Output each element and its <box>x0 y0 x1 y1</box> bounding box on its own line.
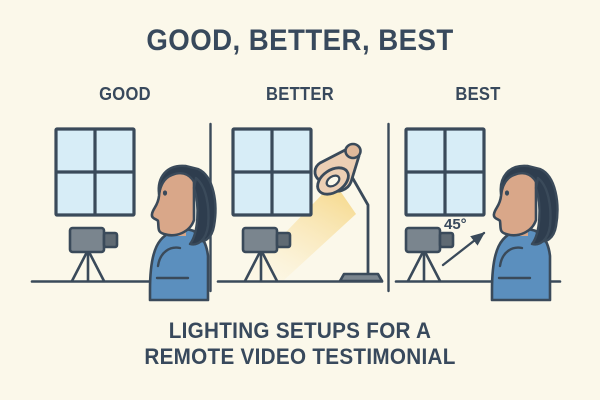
panel-best: 45° <box>396 129 560 300</box>
window-icon <box>233 129 311 215</box>
infographic-canvas: GOOD, BETTER, BEST GOOD BETTER BEST <box>0 0 600 400</box>
tripod-icon <box>72 250 104 281</box>
panel-good <box>32 129 215 300</box>
panel-better <box>218 129 382 282</box>
caption-line-1: LIGHTING SETUPS FOR A <box>18 318 582 344</box>
window-icon <box>56 129 134 215</box>
caption-line-2: REMOTE VIDEO TESTIMONIAL <box>18 344 582 370</box>
person-profile-icon <box>492 166 557 300</box>
person-profile-icon <box>150 166 215 300</box>
tripod-icon <box>408 250 440 281</box>
video-camera-icon <box>70 228 117 252</box>
angle-label: 45° <box>444 216 467 233</box>
window-icon <box>406 129 484 215</box>
